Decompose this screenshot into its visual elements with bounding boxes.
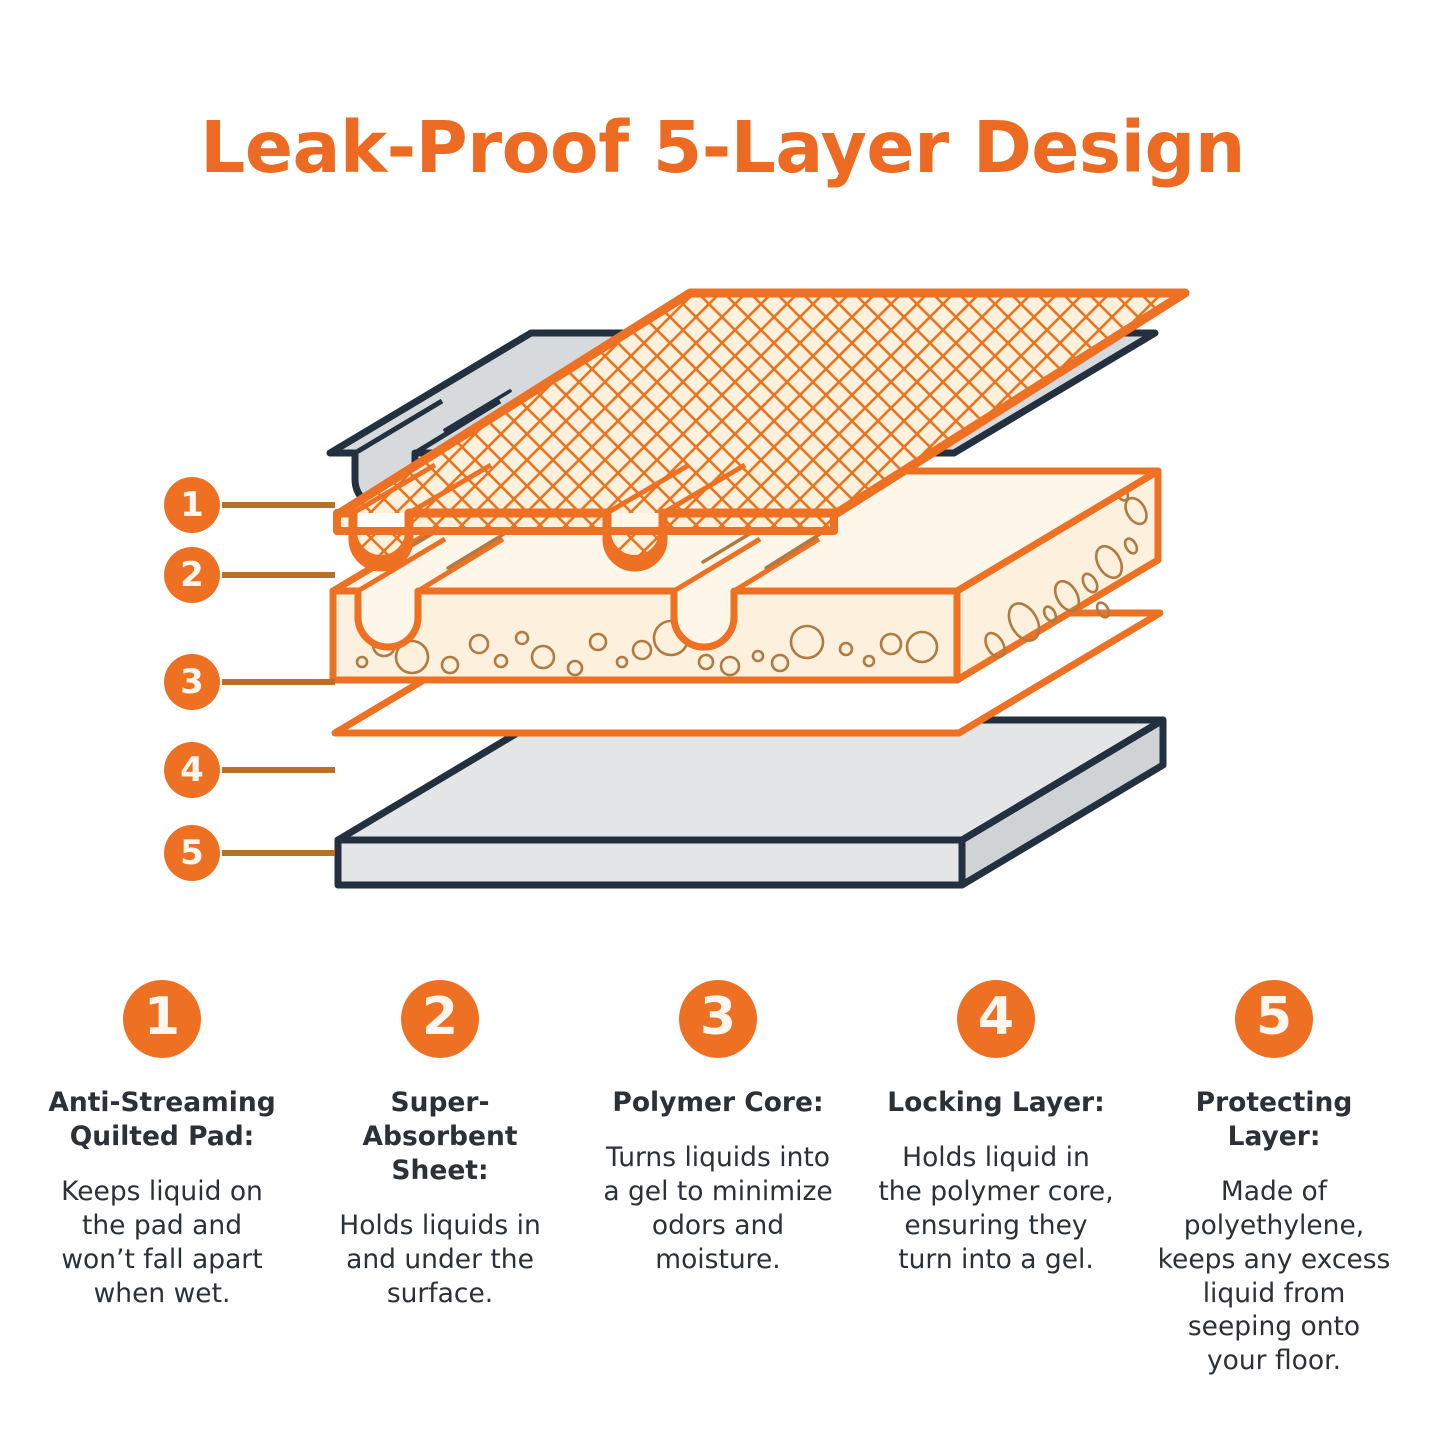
callout-3[interactable]: 3 bbox=[164, 654, 335, 710]
callout-4[interactable]: 4 bbox=[164, 742, 335, 798]
callout-badge-3-label: 3 bbox=[180, 662, 204, 702]
layer-title-3: Polymer Core: bbox=[612, 1086, 823, 1120]
layer-title-1: Anti-Streaming Quilted Pad: bbox=[37, 1086, 287, 1154]
layer-description-2: Holds liquids in and under the surface. bbox=[321, 1209, 559, 1311]
layer-badge-3: 3 bbox=[679, 980, 757, 1058]
layer-column-1: 1 Anti-Streaming Quilted Pad: Keeps liqu… bbox=[23, 980, 301, 1378]
callout-1[interactable]: 1 bbox=[164, 477, 335, 533]
callout-badge-5-label: 5 bbox=[180, 833, 204, 873]
page-title: Leak-Proof 5-Layer Design bbox=[0, 112, 1445, 183]
diagram-callouts: 1 2 3 4 bbox=[164, 477, 335, 881]
layer-badge-2: 2 bbox=[401, 980, 479, 1058]
callout-badge-2-label: 2 bbox=[180, 555, 204, 595]
layer-title-5: Protecting Layer: bbox=[1149, 1086, 1399, 1154]
layer-description-4: Holds liquid in the polymer core, ensuri… bbox=[877, 1141, 1115, 1277]
callout-2[interactable]: 2 bbox=[164, 547, 335, 603]
layer-column-2: 2 Super-Absorbent Sheet: Holds liquids i… bbox=[301, 980, 579, 1378]
callout-5[interactable]: 5 bbox=[164, 825, 335, 881]
layer-description-5: Made of polyethylene, keeps any excess l… bbox=[1155, 1175, 1393, 1378]
layer-column-3: 3 Polymer Core: Turns liquids into a gel… bbox=[579, 980, 857, 1378]
layer-column-4: 4 Locking Layer: Holds liquid in the pol… bbox=[857, 980, 1135, 1378]
layer-badge-1: 1 bbox=[123, 980, 201, 1058]
layer-badge-4: 4 bbox=[957, 980, 1035, 1058]
layer-stack-diagram: 1 2 3 4 bbox=[150, 265, 1310, 915]
layer-title-4: Locking Layer: bbox=[887, 1086, 1104, 1120]
infographic-root: Leak-Proof 5-Layer Design bbox=[0, 0, 1445, 1445]
layer-badge-5: 5 bbox=[1235, 980, 1313, 1058]
layer-column-5: 5 Protecting Layer: Made of polyethylene… bbox=[1135, 980, 1413, 1378]
layer-description-row: 1 Anti-Streaming Quilted Pad: Keeps liqu… bbox=[0, 980, 1445, 1378]
title-area: Leak-Proof 5-Layer Design bbox=[0, 112, 1445, 183]
layer-description-3: Turns liquids into a gel to minimize odo… bbox=[599, 1141, 837, 1277]
diagram-layer-5-protecting-layer bbox=[338, 720, 1163, 885]
layer-title-2: Super-Absorbent Sheet: bbox=[315, 1086, 565, 1188]
callout-badge-4-label: 4 bbox=[180, 750, 204, 790]
layer-description-1: Keeps liquid on the pad and won’t fall a… bbox=[43, 1175, 281, 1311]
callout-badge-1-label: 1 bbox=[180, 485, 204, 525]
